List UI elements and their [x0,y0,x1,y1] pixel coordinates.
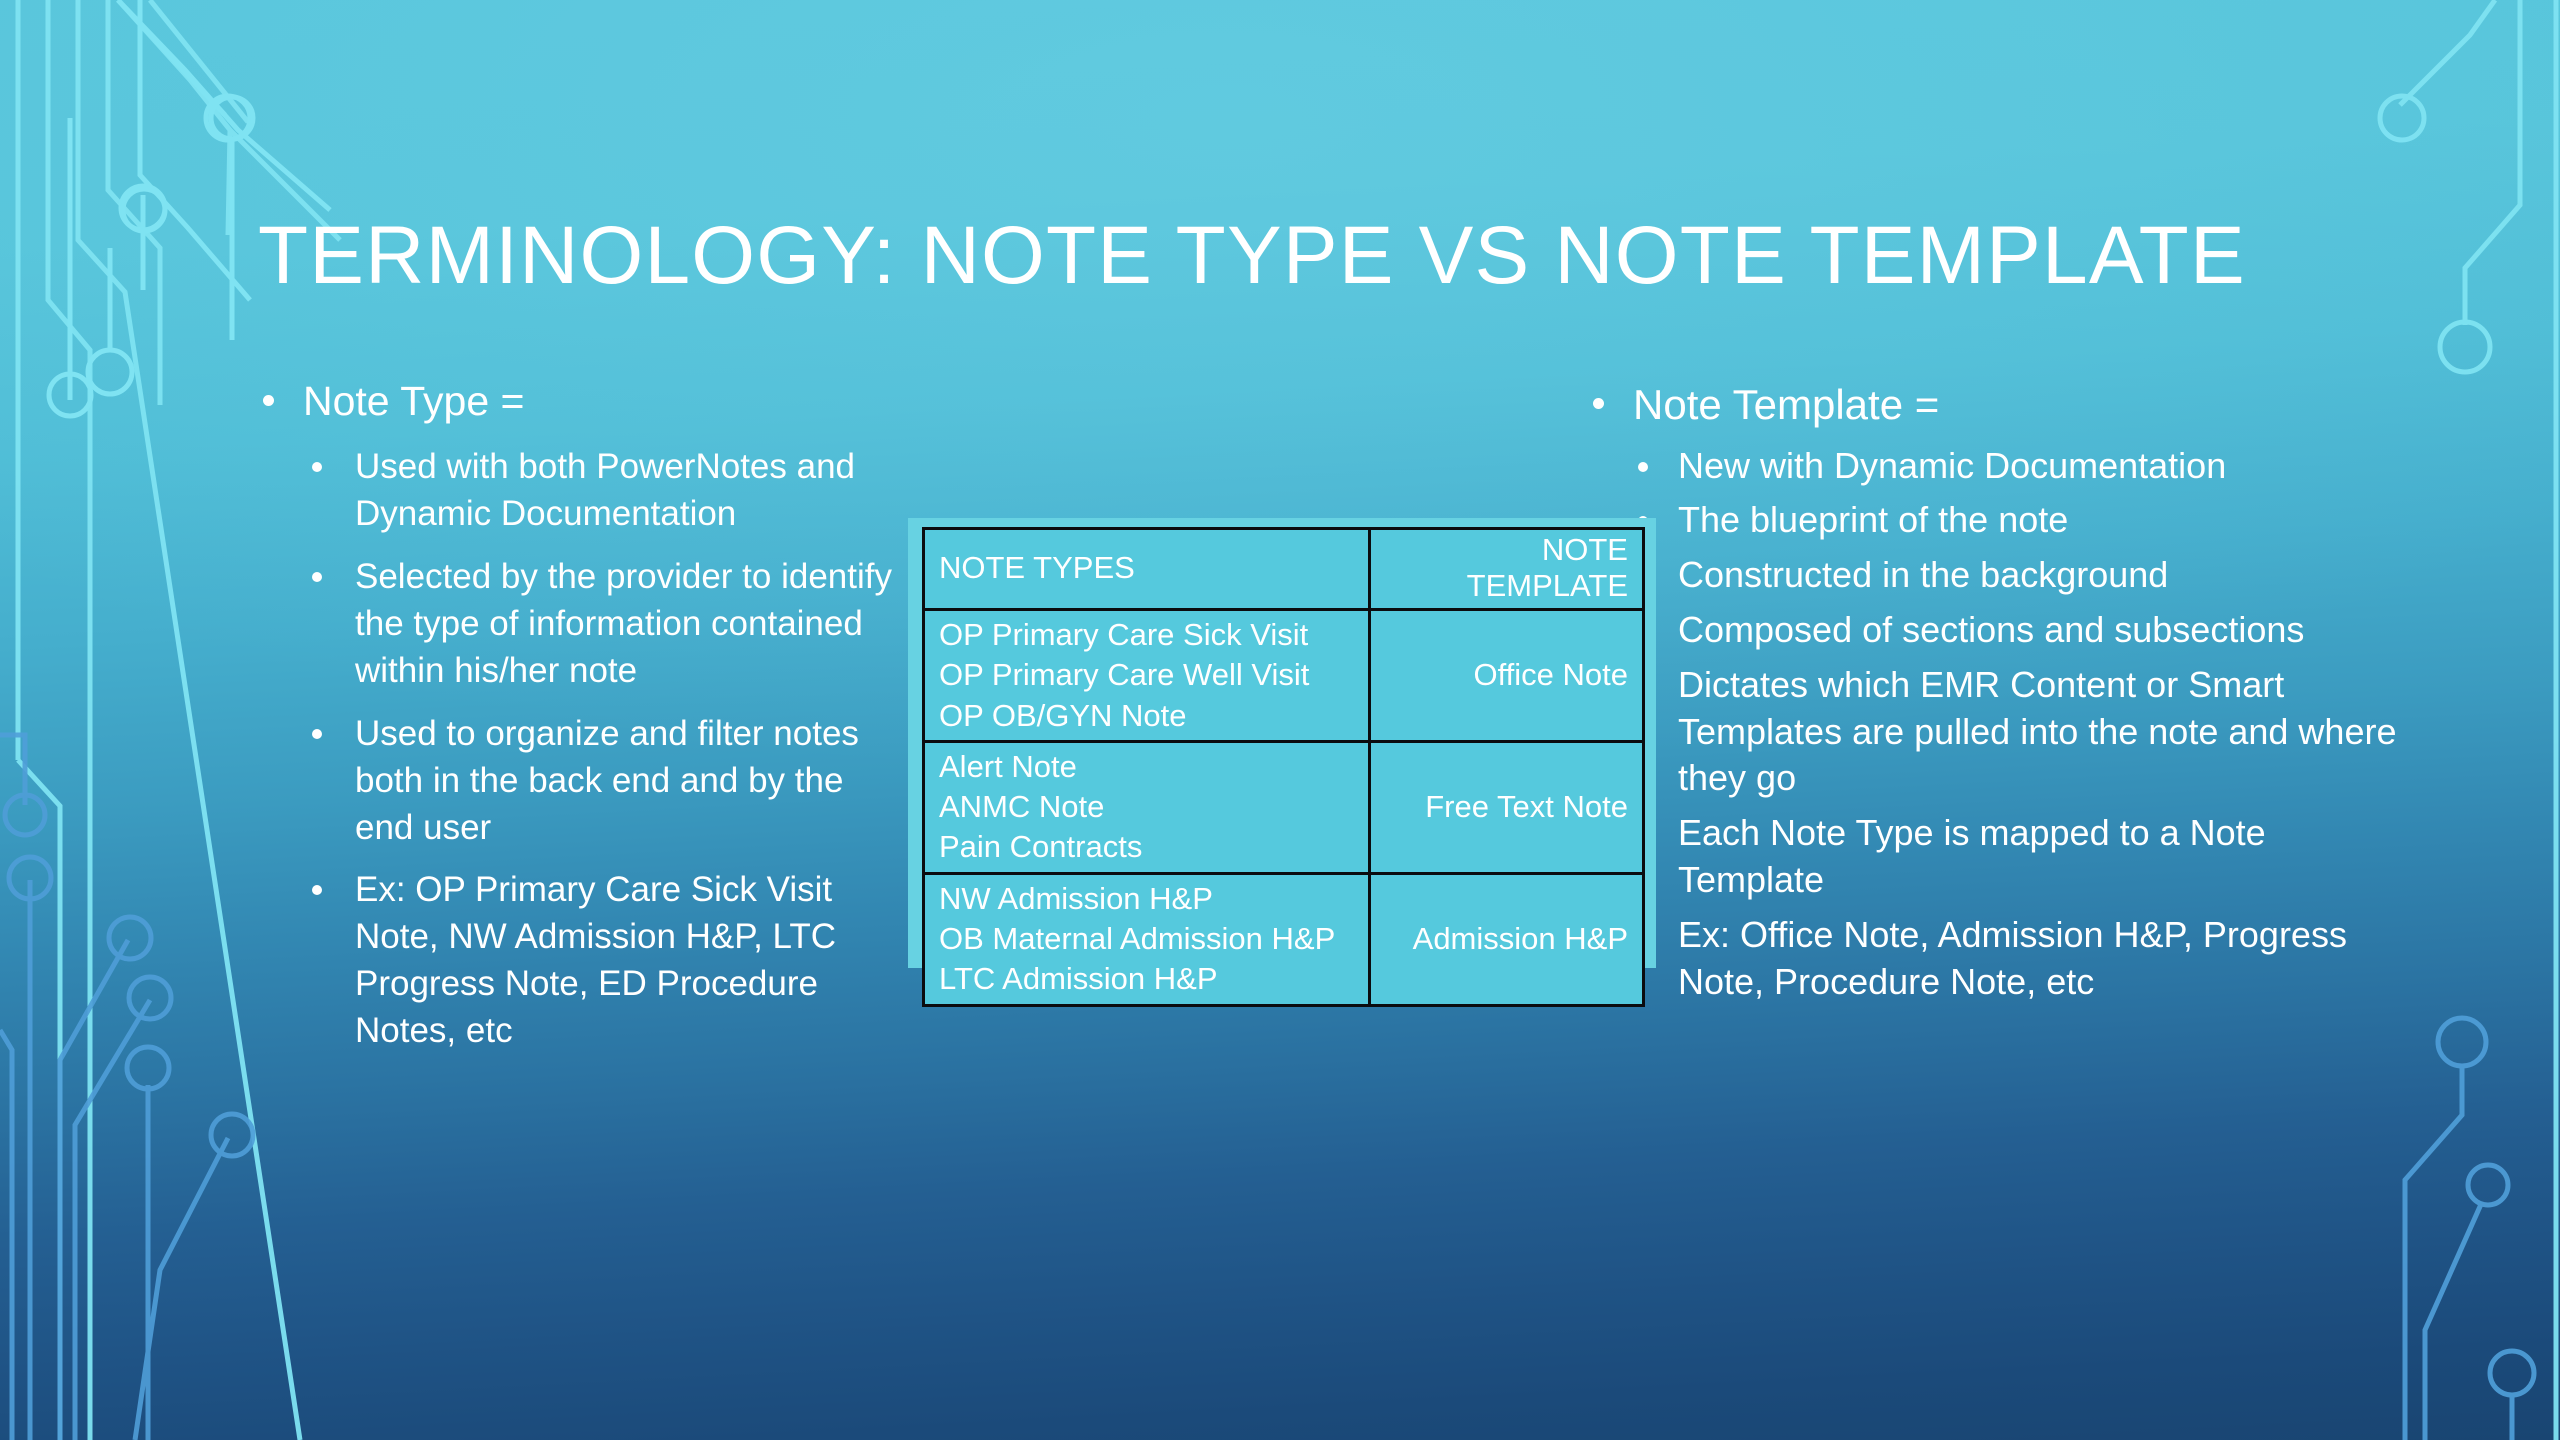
table-header-note-types: NOTE TYPES [924,529,1370,610]
presentation-slide: TERMINOLOGY: NOTE TYPE VS NOTE TEMPLATE … [0,0,2560,1440]
note-type-item: OP Primary Care Well Visit [939,655,1354,695]
left-heading: Note Type = [250,375,910,428]
note-type-item: ANMC Note [939,787,1354,827]
table-row: Alert Note ANMC Note Pain Contracts Free… [924,741,1644,873]
note-type-item: Alert Note [939,747,1354,787]
right-bullet-3: Constructed in the background [1580,552,2410,599]
note-mapping-table: NOTE TYPES NOTE TEMPLATE OP Primary Care… [922,527,1645,1007]
right-bullet-1: New with Dynamic Documentation [1580,443,2410,490]
right-bullet-2: The blueprint of the note [1580,497,2410,544]
note-type-item: OP Primary Care Sick Visit [939,615,1354,655]
right-bullet-6: Each Note Type is mapped to a Note Templ… [1580,810,2410,904]
table-header-row: NOTE TYPES NOTE TEMPLATE [924,529,1644,610]
table-row: OP Primary Care Sick Visit OP Primary Ca… [924,610,1644,742]
table-header-note-template: NOTE TEMPLATE [1370,529,1644,610]
right-bullet-5: Dictates which EMR Content or Smart Temp… [1580,662,2410,802]
left-content-column: Note Type = Used with both PowerNotes an… [250,375,910,1055]
note-type-item: OB Maternal Admission H&P [939,919,1354,959]
table-cell-note-types: OP Primary Care Sick Visit OP Primary Ca… [924,610,1370,742]
right-bullet-7: Ex: Office Note, Admission H&P, Progress… [1580,912,2410,1006]
left-bullet-3: Used to organize and filter notes both i… [250,711,910,852]
table-cell-note-template: Admission H&P [1370,873,1644,1005]
left-bullet-4: Ex: OP Primary Care Sick Visit Note, NW … [250,867,910,1055]
table-cell-note-template: Free Text Note [1370,741,1644,873]
table-cell-note-template: Office Note [1370,610,1644,742]
right-bullet-4: Composed of sections and subsections [1580,607,2410,654]
right-content-column: Note Template = New with Dynamic Documen… [1580,378,2410,1005]
left-bullet-1: Used with both PowerNotes and Dynamic Do… [250,444,910,538]
note-type-item: NW Admission H&P [939,879,1354,919]
right-heading: Note Template = [1580,378,2410,433]
note-type-item: OP OB/GYN Note [939,696,1354,736]
note-type-item: Pain Contracts [939,827,1354,867]
table-cell-note-types: NW Admission H&P OB Maternal Admission H… [924,873,1370,1005]
note-type-item: LTC Admission H&P [939,959,1354,999]
table-cell-note-types: Alert Note ANMC Note Pain Contracts [924,741,1370,873]
page-title: TERMINOLOGY: NOTE TYPE VS NOTE TEMPLATE [258,215,2308,297]
table-row: NW Admission H&P OB Maternal Admission H… [924,873,1644,1005]
note-mapping-table-frame: NOTE TYPES NOTE TEMPLATE OP Primary Care… [908,518,1656,968]
left-bullet-2: Selected by the provider to identify the… [250,554,910,695]
